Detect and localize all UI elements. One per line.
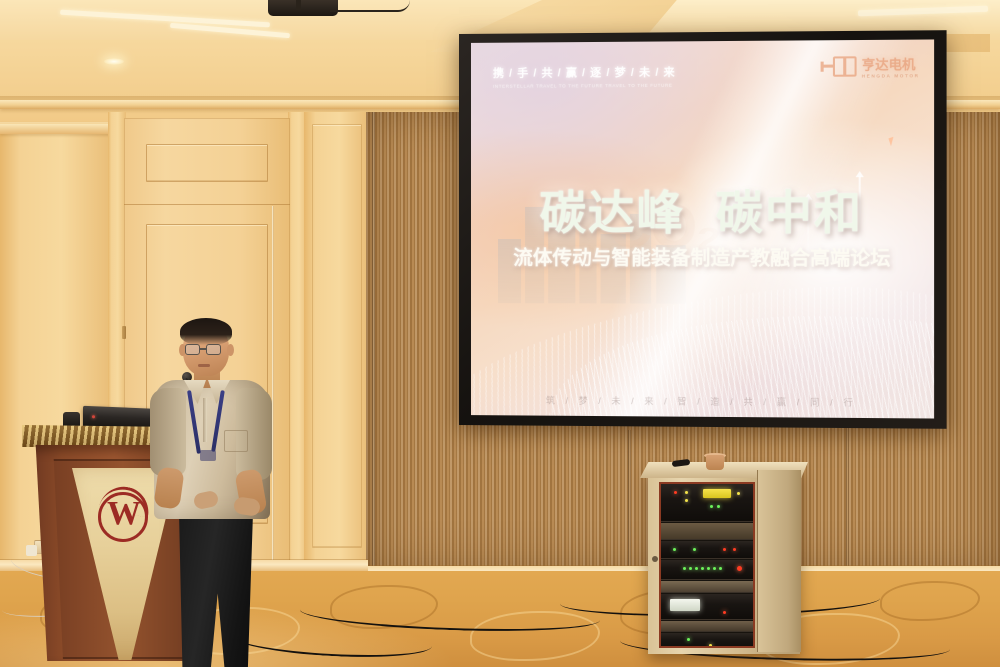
rack-unit-equalizer[interactable] [661, 560, 755, 580]
conference-room-photo: CO₂ 携 / 手 / 共 / 赢 / 逐 / 梦 / 未 / 来 INTERS… [0, 0, 1000, 667]
laptop-indicator-led [92, 415, 95, 418]
motor-logo-icon [821, 55, 858, 78]
projector-cable [330, 0, 410, 12]
rack-led-red [674, 491, 677, 494]
presenter [150, 318, 280, 667]
rack-side-door[interactable] [757, 470, 801, 652]
rack-led-yellow [685, 491, 688, 494]
logo-name-en: HENGDA MOTOR [862, 73, 920, 78]
rack-unit-mixer[interactable] [661, 541, 755, 559]
rack-equipment-bay [659, 482, 755, 648]
rack-led-green [673, 548, 676, 551]
slide-title-part2: 碳中和 [716, 186, 864, 239]
presenter-ear-right [227, 344, 234, 356]
rack-unit-processor[interactable] [661, 633, 755, 648]
wall-panel-seam [628, 430, 631, 572]
pilaster-cap [0, 124, 118, 134]
presenter-badge [200, 450, 216, 461]
projection-screen-frame: CO₂ 携 / 手 / 共 / 赢 / 逐 / 梦 / 未 / 来 INTERS… [459, 30, 947, 429]
rack-led-yellow [685, 499, 688, 502]
rack-unit-faceplate[interactable] [661, 523, 755, 540]
door-rail [124, 204, 290, 205]
rack-led-green [717, 505, 720, 508]
podium-w-logo: W [95, 487, 153, 545]
presenter-mouth [198, 364, 210, 367]
ceiling-coffer-edge [648, 0, 1000, 34]
rack-led-red [723, 548, 726, 551]
rack-display-white [670, 599, 700, 611]
presenter-hair [180, 318, 232, 345]
presenter-sleeve-left [150, 388, 186, 476]
rack-led-red [733, 548, 736, 551]
w-logo-letter: W [95, 495, 153, 533]
paper-cup [706, 455, 724, 470]
wall-panel-inset [312, 124, 362, 548]
rack-unit-cd-player[interactable] [661, 594, 755, 620]
rack-led-green [687, 638, 690, 641]
rack-unit-faceplate[interactable] [661, 581, 755, 593]
projector-mount-arm [296, 0, 301, 10]
logo-name-cn: 亨达电机 [862, 54, 920, 74]
door-hinge [122, 326, 126, 339]
recessed-downlight [104, 58, 124, 65]
rack-door-lock-icon[interactable] [652, 556, 658, 562]
rack-led-yellow [709, 644, 712, 647]
ceiling-projector [268, 0, 338, 16]
rack-led-yellow [737, 492, 740, 495]
glasses-bridge [199, 348, 206, 350]
slide-tagline-en: INTERSTELLAR TRAVEL TO THE FUTURE TRAVEL… [493, 83, 676, 89]
slide-tagline: 携 / 手 / 共 / 赢 / 逐 / 梦 / 未 / 来 INTERSTELL… [493, 64, 676, 89]
wall-panel-seam [372, 112, 375, 572]
rack-led-green [693, 548, 696, 551]
presenter-trousers [174, 514, 258, 667]
rack-display-yellow [703, 489, 731, 498]
rack-led-red [737, 566, 742, 571]
rack-led-green [710, 505, 713, 508]
projection-screen: CO₂ 携 / 手 / 共 / 赢 / 逐 / 梦 / 未 / 来 INTERS… [471, 39, 934, 418]
rack-unit-faceplate[interactable] [661, 621, 755, 632]
slide-subtitle: 流体传动与智能装备制造产教融合高端论坛 [471, 241, 934, 271]
slide-company-logo: 亨达电机 HENGDA MOTOR [821, 54, 920, 79]
rack-unit-amplifier[interactable] [661, 484, 755, 522]
glasses-lens-left [185, 344, 200, 355]
rack-led-red [723, 611, 726, 614]
presenter-shirt-placket [203, 398, 207, 442]
glasses-lens-right [206, 344, 221, 355]
door-transom-panel [146, 144, 268, 182]
slide-title: 碳达峰碳中和 [471, 176, 934, 243]
logo-text: 亨达电机 HENGDA MOTOR [862, 54, 920, 79]
presenter-shirt-pocket [224, 430, 248, 452]
slide-title-part1: 碳达峰 [540, 187, 686, 239]
carpet-pattern [880, 581, 980, 621]
slide-tagline-cn: 携 / 手 / 共 / 赢 / 逐 / 梦 / 未 / 来 [493, 64, 676, 81]
